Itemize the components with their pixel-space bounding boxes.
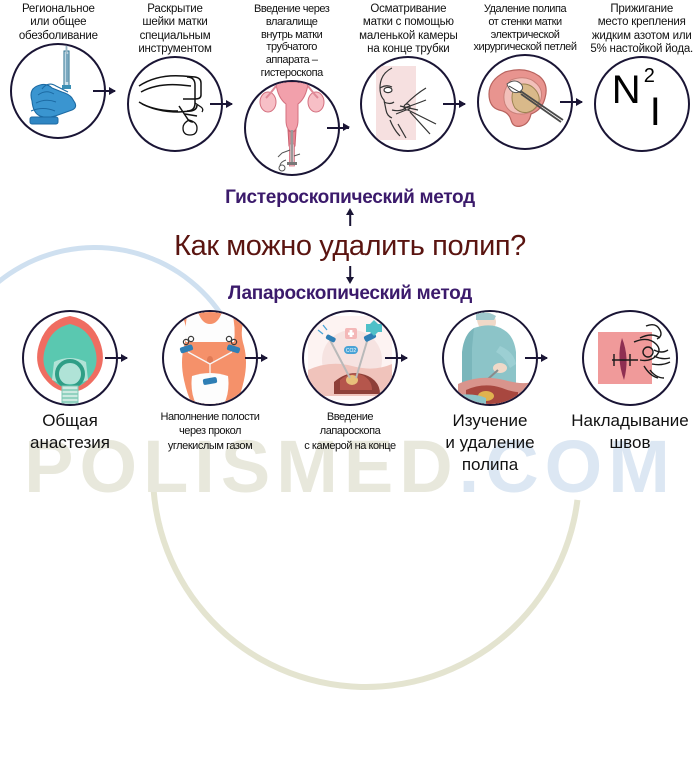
hysteroscopic-steps-row: Региональное или общее обезболивание	[0, 0, 700, 190]
nitrogen-iodine-symbol-icon: N 2 I	[596, 58, 688, 150]
step-bottom-4-caption: Изучение и удаление полипа	[420, 406, 560, 476]
arrow-down-to-laparoscopic	[0, 264, 700, 284]
speculum-icon	[129, 58, 221, 150]
doctor-examining-icon	[362, 58, 454, 150]
step-top-1-caption: Региональное или общее обезболивание	[0, 0, 117, 43]
svg-text:CO2: CO2	[346, 348, 357, 354]
step-top-1-figure	[10, 43, 106, 139]
step-top-4-caption: Осматривание матки с помощью маленькой к…	[350, 0, 467, 56]
step-bottom-2-figure	[162, 310, 258, 406]
step-top-1: Региональное или общее обезболивание	[0, 0, 117, 190]
step-bottom-3-circle: CO2	[302, 310, 398, 406]
infographic-canvas: POLISMED.COM Региональное или общее обез…	[0, 0, 700, 533]
arrow-bottom-2	[245, 357, 267, 359]
step-top-5-figure	[477, 54, 573, 150]
step-top-3: Введение через влагалище внутрь матки тр…	[233, 0, 350, 190]
step-bottom-5-circle	[582, 310, 678, 406]
step-top-2: Раскрытие шейки матки специальным инстру…	[117, 0, 234, 190]
arrow-top-2	[210, 103, 232, 105]
step-bottom-1-caption: Общая анастезия	[0, 406, 140, 454]
step-top-2-circle	[127, 56, 223, 152]
center-question-block: Гистероскопический метод Как можно удали…	[0, 188, 700, 304]
step-top-6-caption: Прижигание место крепления жидким азотом…	[583, 0, 700, 56]
arrow-up-to-hysteroscopic	[0, 208, 700, 228]
nitrogen-superscript: 2	[644, 66, 655, 86]
step-bottom-1: Общая анастезия	[0, 310, 140, 533]
step-bottom-5-figure	[582, 310, 678, 406]
step-bottom-4: Изучение и удаление полипа	[420, 310, 560, 533]
uterus-electric-loop-icon	[479, 56, 571, 148]
arrow-top-1	[93, 90, 115, 92]
step-top-3-caption: Введение через влагалище внутрь матки тр…	[233, 0, 350, 80]
step-bottom-3: CO2 Введение лапароскопа с камерой на ко…	[280, 310, 420, 533]
step-top-4-circle	[360, 56, 456, 152]
step-bottom-3-caption: Введение лапароскопа с камерой на конце	[280, 406, 420, 453]
step-bottom-1-circle	[22, 310, 118, 406]
step-bottom-3-figure: CO2	[302, 310, 398, 406]
step-top-4-figure	[360, 56, 456, 152]
arrow-bottom-1	[105, 357, 127, 359]
arrow-bottom-3	[385, 357, 407, 359]
step-top-6-circle: N 2 I	[594, 56, 690, 152]
iodine-letter: I	[650, 92, 661, 132]
step-top-2-figure	[127, 56, 223, 152]
step-top-2-caption: Раскрытие шейки матки специальным инстру…	[117, 0, 234, 56]
main-question-title: Как можно удалить полип?	[0, 228, 700, 264]
step-top-5: Удаление полипа от стенки матки электрич…	[467, 0, 584, 190]
step-top-6: Прижигание место крепления жидким азотом…	[583, 0, 700, 190]
surgeon-operating-icon	[444, 312, 536, 404]
method-label-laparoscopic: Лапароскопический метод	[0, 284, 700, 304]
arrow-top-4	[443, 103, 465, 105]
anesthesia-mask-icon	[24, 312, 116, 404]
suturing-needle-icon	[584, 312, 676, 404]
step-bottom-2: Наполнение полости через прокол углекисл…	[140, 310, 280, 533]
step-top-5-caption: Удаление полипа от стенки матки электрич…	[467, 0, 584, 54]
method-label-hysteroscopic: Гистероскопический метод	[0, 188, 700, 208]
step-bottom-1-figure	[22, 310, 118, 406]
step-bottom-4-circle	[442, 310, 538, 406]
arrow-top-5	[560, 101, 582, 103]
step-bottom-2-circle	[162, 310, 258, 406]
laparoscopic-steps-row: Общая анастезия	[0, 310, 700, 533]
step-top-3-circle	[244, 80, 340, 176]
gloved-hand-syringe-icon	[12, 45, 104, 137]
step-top-5-circle	[477, 54, 573, 150]
step-bottom-5: Накладывание швов	[560, 310, 700, 533]
nitrogen-letter: N	[612, 70, 641, 110]
step-bottom-5-caption: Накладывание швов	[560, 406, 700, 454]
step-top-4: Осматривание матки с помощью маленькой к…	[350, 0, 467, 190]
step-bottom-2-caption: Наполнение полости через прокол углекисл…	[140, 406, 280, 453]
arrow-bottom-4	[525, 357, 547, 359]
step-top-1-circle	[10, 43, 106, 139]
laparoscope-insertion-icon: CO2	[304, 312, 396, 404]
step-top-6-figure: N 2 I	[594, 56, 690, 152]
step-bottom-4-figure	[442, 310, 538, 406]
abdomen-trocar-ports-icon	[164, 312, 256, 404]
arrow-top-3	[327, 127, 349, 129]
step-top-3-figure	[244, 80, 340, 176]
uterus-hysteroscope-icon	[246, 82, 338, 174]
